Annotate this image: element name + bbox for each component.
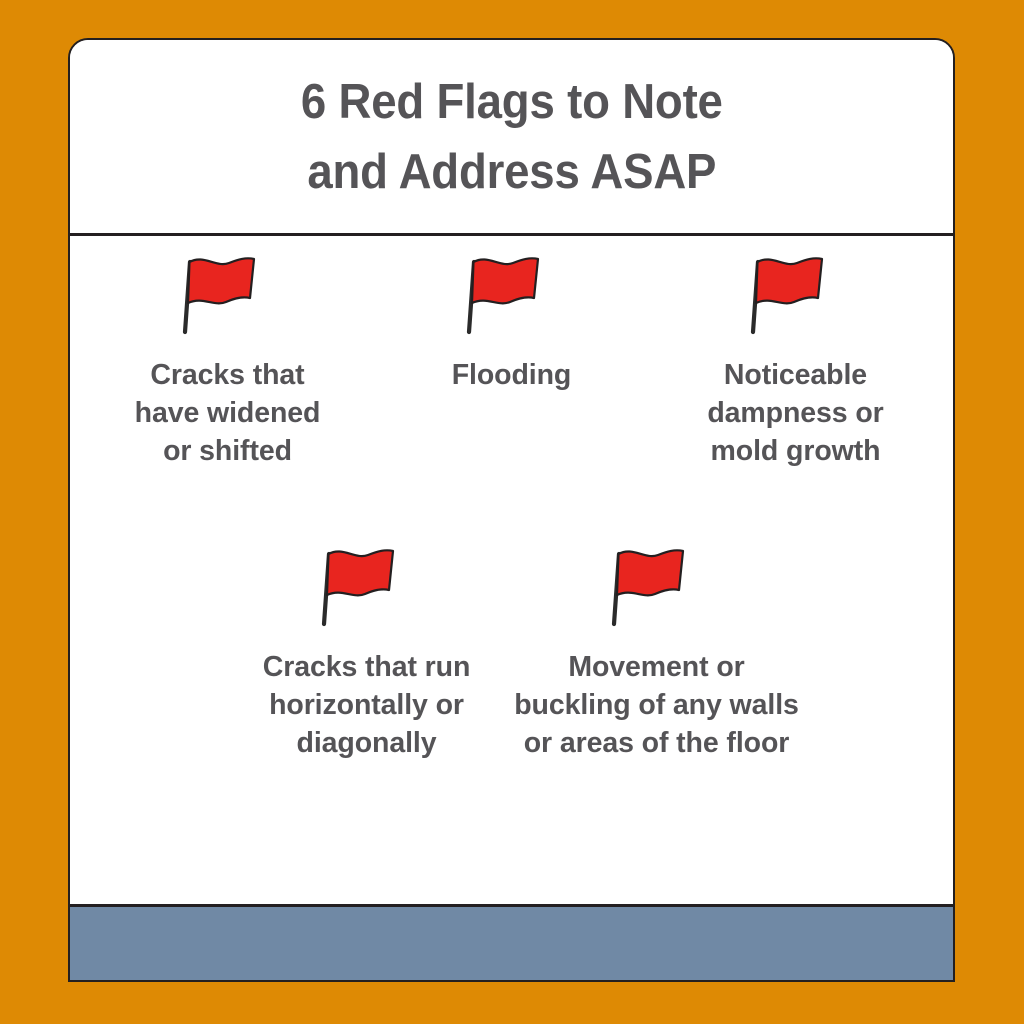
red-flag-icon [176, 252, 260, 338]
flag-slot [222, 536, 512, 648]
red-flag-label: Cracks that run horizontally or diagonal… [263, 648, 471, 762]
card-body: Cracks that have widened or shifted [70, 236, 953, 904]
red-flag-item-2: Flooding [370, 244, 654, 470]
red-flag-item-1: Cracks that have widened or shifted [86, 244, 370, 470]
red-flag-icon [315, 544, 399, 630]
flag-slot [512, 536, 802, 648]
red-flag-row-bottom: Cracks that run horizontally or diagonal… [70, 536, 953, 762]
red-flag-item-4: Cracks that run horizontally or diagonal… [222, 536, 512, 762]
red-flag-icon [744, 252, 828, 338]
red-flag-label: Flooding [452, 356, 572, 394]
flag-slot [370, 244, 654, 356]
red-flag-label: Movement or buckling of any walls or are… [514, 648, 799, 762]
page-title: 6 Red Flags to Note and Address ASAP [273, 67, 751, 207]
red-flag-row-top: Cracks that have widened or shifted [70, 244, 953, 470]
flag-slot [654, 244, 938, 356]
red-flag-label: Cracks that have widened or shifted [135, 356, 321, 470]
card-footer-bar [70, 904, 953, 980]
red-flag-item-5: Movement or buckling of any walls or are… [512, 536, 802, 762]
page-title-line-2: and Address ASAP [301, 137, 723, 207]
red-flag-icon [605, 544, 689, 630]
flag-slot [86, 244, 370, 356]
red-flag-label: Noticeable dampness or mold growth [707, 356, 883, 470]
red-flag-item-3: Noticeable dampness or mold growth [654, 244, 938, 470]
red-flag-icon [460, 252, 544, 338]
infographic-card: 6 Red Flags to Note and Address ASAP [68, 38, 955, 982]
infographic-canvas: 6 Red Flags to Note and Address ASAP [0, 0, 1024, 1024]
card-header: 6 Red Flags to Note and Address ASAP [70, 40, 953, 236]
page-title-line-1: 6 Red Flags to Note [301, 67, 723, 137]
